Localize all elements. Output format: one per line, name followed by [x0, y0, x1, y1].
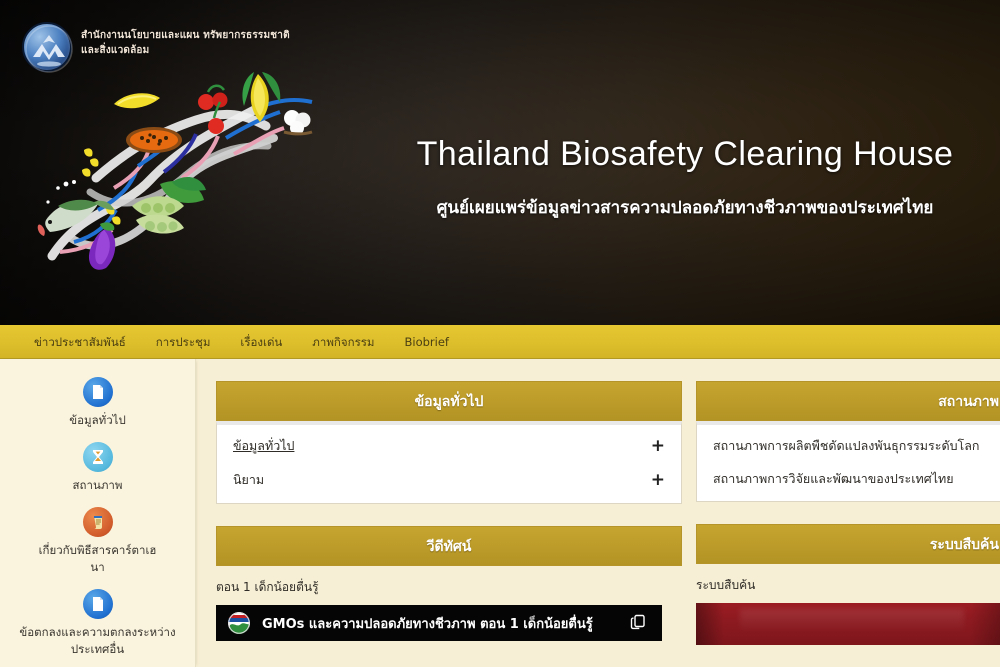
nav-item-meetings[interactable]: การประชุม	[152, 325, 215, 359]
nav-item-news[interactable]: ข่าวประชาสัมพันธ์	[30, 325, 130, 359]
accordion-row[interactable]: นิยาม +	[233, 463, 665, 497]
onep-blue-emblem-icon	[22, 22, 72, 72]
dna-helix-produce-illustration	[30, 60, 340, 290]
main-content: ข้อมูลทั่วไป ข้อมูลทั่วไป + นิยาม +	[196, 359, 1000, 667]
channel-avatar-icon	[228, 612, 250, 634]
sidebar-item-international-agreements[interactable]: ข้อตกลงและความตกลงระหว่างประเทศอื่น	[0, 589, 195, 658]
panel-title-video: วีดีทัศน์	[216, 526, 682, 566]
sidebar-label-general-info: ข้อมูลทั่วไป	[69, 412, 126, 429]
panel-status: สถานภาพ สถานภาพการผลิตพืชดัดแปลงพันธุกรร…	[696, 381, 1000, 502]
nav-item-gallery[interactable]: ภาพกิจกรรม	[308, 325, 378, 359]
youtube-player-embed[interactable]: GMOs และความปลอดภัยทางชีวภาพ ตอน 1 เด็กน…	[216, 605, 662, 641]
panel-body-status: สถานภาพการผลิตพืชดัดแปลงพันธุกรรมระดับโล…	[696, 421, 1000, 502]
sidebar: ข้อมูลทั่วไป สถานภาพ	[0, 359, 196, 667]
status-row[interactable]: สถานภาพการวิจัยและพัฒนาของประเทศไทย	[713, 462, 1000, 495]
accordion-label-general-info[interactable]: ข้อมูลทั่วไป	[233, 436, 294, 456]
red-banner-thumbnail[interactable]	[696, 603, 1000, 645]
panel-title-status: สถานภาพ	[696, 381, 1000, 421]
accordion-row[interactable]: ข้อมูลทั่วไป +	[233, 429, 665, 463]
panel-general-info: ข้อมูลทั่วไป ข้อมูลทั่วไป + นิยาม +	[216, 381, 682, 504]
panel-title-general-info: ข้อมูลทั่วไป	[216, 381, 682, 421]
page-root: สำนักงานนโยบายและแผน ทรัพยากรธรรมชาติ แล…	[0, 0, 1000, 667]
document-blue-icon	[83, 589, 113, 619]
sidebar-label-status: สถานภาพ	[73, 477, 123, 494]
organization-logo[interactable]: สำนักงานนโยบายและแผน ทรัพยากรธรรมชาติ แล…	[22, 22, 290, 72]
site-subtitle: ศูนย์เผยแพร่ข้อมูลข่าวสารความปลอดภัยทางช…	[380, 196, 990, 220]
hourglass-icon	[83, 442, 113, 472]
sidebar-item-status[interactable]: สถานภาพ	[0, 442, 195, 494]
nav-item-biobrief[interactable]: Biobrief	[401, 325, 453, 359]
status-row[interactable]: สถานภาพการผลิตพืชดัดแปลงพันธุกรรมระดับโล…	[713, 429, 1000, 462]
sidebar-item-general-info[interactable]: ข้อมูลทั่วไป	[0, 377, 195, 429]
video-title: GMOs และความปลอดภัยทางชีวภาพ ตอน 1 เด็กน…	[262, 613, 593, 634]
panel-video: วีดีทัศน์ ตอน 1 เด็กน้อยตื่นรู้	[216, 526, 682, 641]
thumbnail-sheen	[740, 609, 965, 633]
scroll-orange-icon	[83, 507, 113, 537]
content-column-left: ข้อมูลทั่วไป ข้อมูลทั่วไป + นิยาม +	[216, 381, 682, 667]
document-blue-icon	[83, 377, 113, 407]
main-navigation: ข่าวประชาสัมพันธ์ การประชุม เรื่องเด่น ภ…	[0, 325, 1000, 359]
sidebar-label-cartagena-protocol: เกี่ยวกับพิธีสารคาร์ตาเฮนา	[38, 542, 158, 576]
expand-plus-icon[interactable]: +	[651, 438, 665, 455]
sidebar-item-cartagena-protocol[interactable]: เกี่ยวกับพิธีสารคาร์ตาเฮนา	[0, 507, 195, 576]
nav-item-highlights[interactable]: เรื่องเด่น	[236, 325, 286, 359]
panel-title-search-system: ระบบสืบค้น	[696, 524, 1000, 564]
panel-body-general-info: ข้อมูลทั่วไป + นิยาม +	[216, 421, 682, 504]
copy-share-icon[interactable]	[630, 614, 646, 630]
accordion-label-definitions[interactable]: นิยาม	[233, 470, 264, 490]
banner-title-block: Thailand Biosafety Clearing House ศูนย์เ…	[380, 132, 990, 220]
site-title: Thailand Biosafety Clearing House	[380, 132, 990, 176]
content-column-right: สถานภาพ สถานภาพการผลิตพืชดัดแปลงพันธุกรร…	[696, 381, 1000, 667]
panel-search-system: ระบบสืบค้น ระบบสืบค้น	[696, 524, 1000, 645]
org-name-line-1: สำนักงานนโยบายและแผน ทรัพยากรธรรมชาติ	[81, 28, 290, 43]
org-name-line-2: และสิ่งแวดล้อม	[81, 43, 290, 58]
expand-plus-icon[interactable]: +	[651, 472, 665, 489]
body-area: ข้อมูลทั่วไป สถานภาพ	[0, 359, 1000, 667]
sidebar-label-international-agreements: ข้อตกลงและความตกลงระหว่างประเทศอื่น	[18, 624, 178, 658]
search-system-caption: ระบบสืบค้น	[696, 576, 1000, 595]
site-banner: สำนักงานนโยบายและแผน ทรัพยากรธรรมชาติ แล…	[0, 0, 1000, 325]
video-caption: ตอน 1 เด็กน้อยตื่นรู้	[216, 578, 682, 597]
